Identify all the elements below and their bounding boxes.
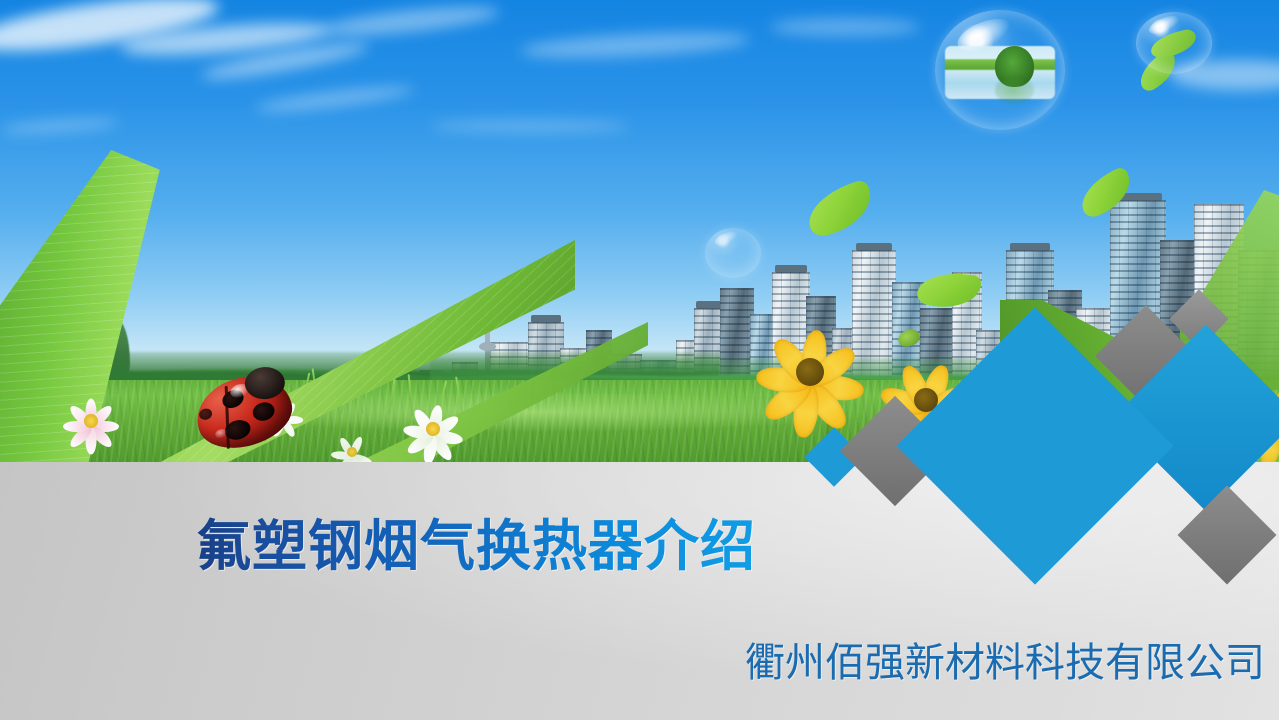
white-cosmos-flower xyxy=(330,430,374,462)
yellow-cosmos-flower xyxy=(756,318,864,426)
slide-title: 氟塑钢烟气换热器介绍 xyxy=(196,517,756,576)
company-name: 衢州佰强新材料科技有限公司 xyxy=(745,641,1265,685)
bubble-with-leaf xyxy=(1136,12,1212,74)
presentation-slide: 氟塑钢烟气换热器介绍 衢州佰强新材料科技有限公司 xyxy=(0,0,1279,720)
white-cosmos-flower xyxy=(62,392,120,450)
bubble-with-tree-island xyxy=(935,10,1065,130)
white-cosmos-flower xyxy=(402,398,464,460)
small-bubble xyxy=(705,228,761,278)
